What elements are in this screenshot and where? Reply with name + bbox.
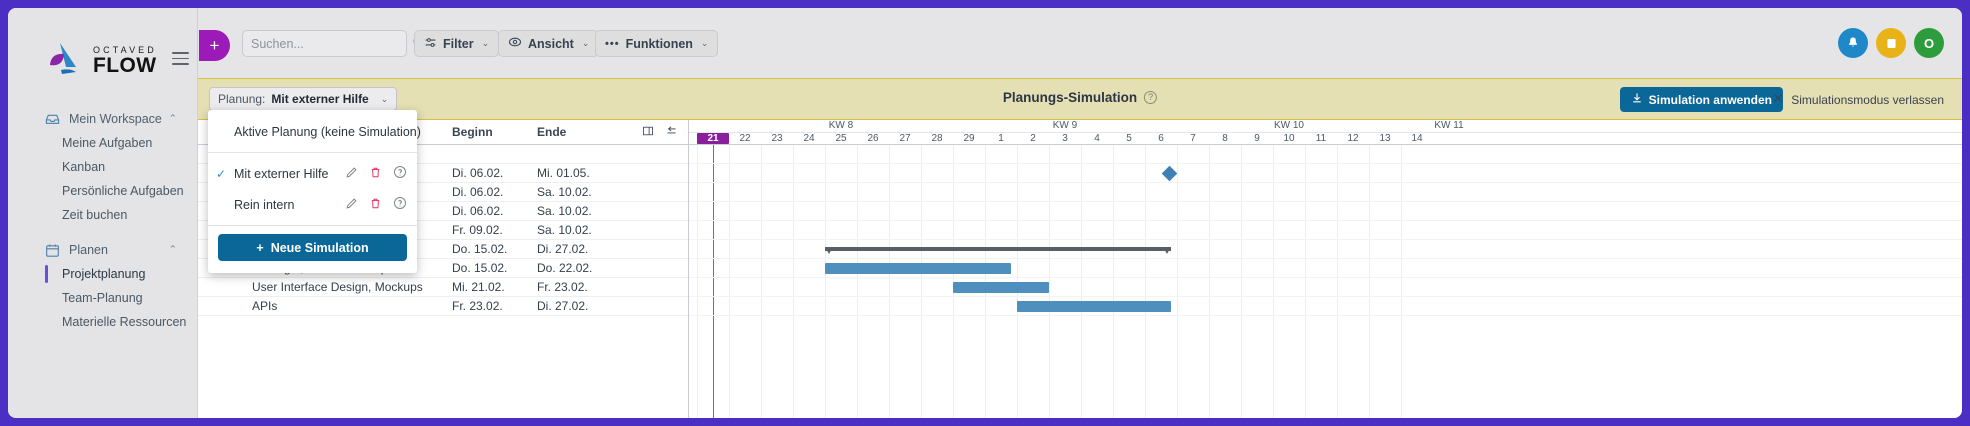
gantt-row[interactable] [689, 145, 1962, 164]
table-row[interactable]: User Interface Design, MockupsMi. 21.02.… [198, 278, 688, 297]
toolbar: + Filter ⌄ Ansicht [198, 8, 1962, 78]
sidebar-item-zeit-buchen[interactable]: Zeit buchen [8, 203, 197, 227]
gantt-day-label: 29 [953, 133, 985, 144]
menu-divider [208, 225, 417, 226]
search-input[interactable] [242, 30, 407, 57]
notifications-button[interactable] [1838, 28, 1868, 58]
row-ende: Sa. 10.02. [537, 204, 592, 218]
gantt-week-header: KW 8KW 9KW 10KW 11 [689, 120, 1962, 133]
menu-divider [208, 152, 417, 153]
simulation-title-text: Planungs-Simulation [1003, 90, 1137, 105]
filter-label: Filter [443, 37, 474, 51]
help-icon[interactable]: ? [1144, 91, 1157, 104]
gantt-day-label: 22 [729, 133, 761, 144]
collapse-panel-icon[interactable] [665, 124, 678, 140]
sidebar-group-mein-workspace[interactable]: Mein Workspace ⌃ [8, 107, 197, 131]
sidebar-item-meine-aufgaben[interactable]: Meine Aufgaben [8, 131, 197, 155]
sidebar-group-label: Mein Workspace [69, 112, 162, 126]
plus-icon: + [256, 241, 263, 255]
gantt-day-label: 11 [1305, 133, 1337, 144]
menu-item-label: Rein intern [234, 198, 345, 212]
edit-icon[interactable] [345, 197, 358, 213]
notes-button[interactable] [1876, 28, 1906, 58]
gantt-day-label: 9 [1241, 133, 1273, 144]
column-settings-icon[interactable] [642, 125, 654, 140]
octaved-logo-icon [46, 41, 84, 77]
search-field[interactable] [251, 37, 412, 51]
apply-simulation-button[interactable]: Simulation anwenden [1620, 87, 1783, 112]
row-ende: Fr. 23.02. [537, 280, 588, 294]
neue-simulation-label: Neue Simulation [271, 241, 369, 255]
apply-simulation-label: Simulation anwenden [1649, 93, 1772, 107]
chevron-up-icon[interactable]: ⌃ [169, 245, 177, 256]
row-beginn: Di. 06.02. [452, 166, 503, 180]
check-icon: ✓ [216, 167, 234, 181]
gantt-day-label: 28 [921, 133, 953, 144]
gantt-day-label: 4 [1081, 133, 1113, 144]
column-header-beginn[interactable]: Beginn [452, 125, 493, 139]
planung-select[interactable]: Planung: Mit externer Hilfe ⌄ [209, 87, 397, 111]
row-ende: Mi. 01.05. [537, 166, 590, 180]
planung-label: Planung: [218, 92, 265, 106]
brand-logo[interactable]: OCTAVED FLOW [46, 41, 157, 77]
nav-group-planen: Planen ⌃ Projektplanung Team-Planung Mat… [8, 238, 197, 334]
menu-item-label: Mit externer Hilfe [234, 167, 345, 181]
gantt-day-label: 3 [1049, 133, 1081, 144]
table-row[interactable]: APIsFr. 23.02.Di. 27.02. [198, 297, 688, 316]
menu-item-mit-externer-hilfe[interactable]: ✓ Mit externer Hilfe [208, 158, 417, 189]
delete-icon[interactable] [369, 197, 382, 213]
page-title: Planungs-Simulation ? [1003, 90, 1157, 105]
row-beginn: Fr. 09.02. [452, 223, 503, 237]
sidebar-group-planen[interactable]: Planen ⌃ [8, 238, 197, 262]
gantt-task-bar[interactable] [825, 263, 1011, 274]
gantt-week-label: KW 11 [1401, 120, 1497, 131]
gantt-day-header: 1718192021222324252627282912345678910111… [689, 133, 1962, 145]
gantt-row[interactable] [689, 297, 1962, 316]
row-beginn: Do. 15.02. [452, 261, 507, 275]
edit-icon[interactable] [345, 166, 358, 182]
row-beginn: Di. 06.02. [452, 185, 503, 199]
planung-dropdown-menu: Aktive Planung (keine Simulation) ✓ Mit … [208, 110, 417, 273]
row-ende: Do. 22.02. [537, 261, 592, 275]
gantt-day-label: 26 [857, 133, 889, 144]
gantt-day-label: 21 [697, 133, 729, 144]
close-icon[interactable] [1772, 92, 1784, 107]
row-ende: Sa. 10.02. [537, 185, 592, 199]
gantt-day-label: 1 [985, 133, 1017, 144]
gantt-row[interactable] [689, 183, 1962, 202]
gantt-day-label: 8 [1209, 133, 1241, 144]
row-beginn: Di. 06.02. [452, 204, 503, 218]
sidebar-group-label: Planen [69, 243, 108, 257]
gantt-day-label: 12 [1337, 133, 1369, 144]
add-button[interactable]: + [199, 30, 230, 61]
chevron-up-icon[interactable]: ⌃ [169, 114, 177, 125]
row-ende: Sa. 10.02. [537, 223, 592, 237]
gantt-day-label: 24 [793, 133, 825, 144]
gantt-day-label: 7 [1177, 133, 1209, 144]
sidebar: OCTAVED FLOW Mein Workspace ⌃ Meine Aufg… [8, 8, 198, 418]
gantt-day-label: 10 [1273, 133, 1305, 144]
ansicht-button[interactable]: Ansicht ⌄ [498, 30, 599, 57]
gantt-row[interactable] [689, 202, 1962, 221]
gantt-body[interactable] [689, 145, 1962, 418]
gantt-day-label: 2 [1017, 133, 1049, 144]
gantt-day-label: 6 [1145, 133, 1177, 144]
planung-value: Mit externer Hilfe [271, 92, 368, 106]
gantt-day-label: 23 [761, 133, 793, 144]
calendar-icon [45, 243, 60, 258]
row-name: User Interface Design, Mockups [252, 280, 423, 294]
sidebar-item-materielle-ressourcen[interactable]: Materielle Ressourcen [8, 310, 197, 334]
row-beginn: Mi. 21.02. [452, 280, 505, 294]
filter-icon [424, 36, 437, 52]
brand-bottom: FLOW [93, 54, 156, 77]
row-ende: Di. 27.02. [537, 242, 588, 256]
gantt-chart: KW 8KW 9KW 10KW 11 171819202122232425262… [689, 120, 1962, 418]
row-beginn: Do. 15.02. [452, 242, 507, 256]
gantt-day-label: 5 [1113, 133, 1145, 144]
gantt-week-label: KW 10 [1177, 120, 1401, 131]
gantt-task-bar[interactable] [1017, 301, 1171, 312]
funktionen-button[interactable]: ••• Funktionen ⌄ [595, 30, 718, 57]
help-icon[interactable] [393, 196, 407, 213]
sidebar-item-projektplanung[interactable]: Projektplanung [8, 262, 197, 286]
inbox-icon [45, 112, 60, 127]
chevron-down-icon[interactable]: ⌄ [381, 94, 389, 105]
neue-simulation-button[interactable]: + Neue Simulation [218, 234, 407, 261]
gantt-day-label: 27 [889, 133, 921, 144]
gantt-day-label: 14 [1401, 133, 1433, 144]
sidebar-item-persoenliche-aufgaben[interactable]: Persönliche Aufgaben [8, 179, 197, 203]
gantt-day-label: 20 [689, 133, 697, 144]
column-header-ende[interactable]: Ende [537, 125, 566, 139]
row-name: APIs [252, 299, 277, 313]
eye-icon [508, 35, 522, 52]
ansicht-label: Ansicht [528, 37, 574, 51]
menu-item-aktive-planung[interactable]: Aktive Planung (keine Simulation) [208, 116, 417, 147]
gantt-week-label: KW 8 [729, 120, 953, 131]
gantt-summary-bar[interactable] [825, 247, 1171, 251]
menu-item-label: Aktive Planung (keine Simulation) [234, 125, 421, 139]
sidebar-item-kanban[interactable]: Kanban [8, 155, 197, 179]
ellipsis-icon: ••• [605, 38, 620, 50]
sidebar-item-team-planung[interactable]: Team-Planung [8, 286, 197, 310]
help-icon[interactable] [393, 165, 407, 182]
exit-simulation-label: Simulationsmodus verlassen [1791, 93, 1944, 107]
gantt-week-label: KW 9 [953, 120, 1177, 131]
chevron-down-icon[interactable]: ⌄ [582, 38, 590, 49]
app-window: OCTAVED FLOW Mein Workspace ⌃ Meine Aufg… [8, 8, 1962, 418]
gantt-task-bar[interactable] [953, 282, 1049, 293]
chevron-down-icon[interactable]: ⌄ [701, 38, 709, 49]
download-icon [1631, 92, 1643, 107]
delete-icon[interactable] [369, 166, 382, 182]
gantt-row[interactable] [689, 164, 1962, 183]
gantt-day-label: 13 [1369, 133, 1401, 144]
funktionen-label: Funktionen [626, 37, 693, 51]
filter-button[interactable]: Filter ⌄ [414, 30, 499, 57]
gantt-row[interactable] [689, 278, 1962, 297]
chevron-down-icon[interactable]: ⌄ [482, 38, 490, 49]
toolbar-actions: O [1838, 28, 1944, 58]
avatar[interactable]: O [1914, 28, 1944, 58]
exit-simulation-button[interactable]: Simulationsmodus verlassen [1772, 87, 1944, 112]
simulation-banner: Planung: Mit externer Hilfe ⌄ Planungs-S… [198, 78, 1962, 120]
menu-item-rein-intern[interactable]: Rein intern [208, 189, 417, 220]
menu-toggle-icon[interactable] [172, 52, 189, 69]
gantt-day-label: 25 [825, 133, 857, 144]
nav-group-workspace: Mein Workspace ⌃ Meine Aufgaben Kanban P… [8, 107, 197, 227]
row-beginn: Fr. 23.02. [452, 299, 503, 313]
gantt-row[interactable] [689, 221, 1962, 240]
row-ende: Di. 27.02. [537, 299, 588, 313]
